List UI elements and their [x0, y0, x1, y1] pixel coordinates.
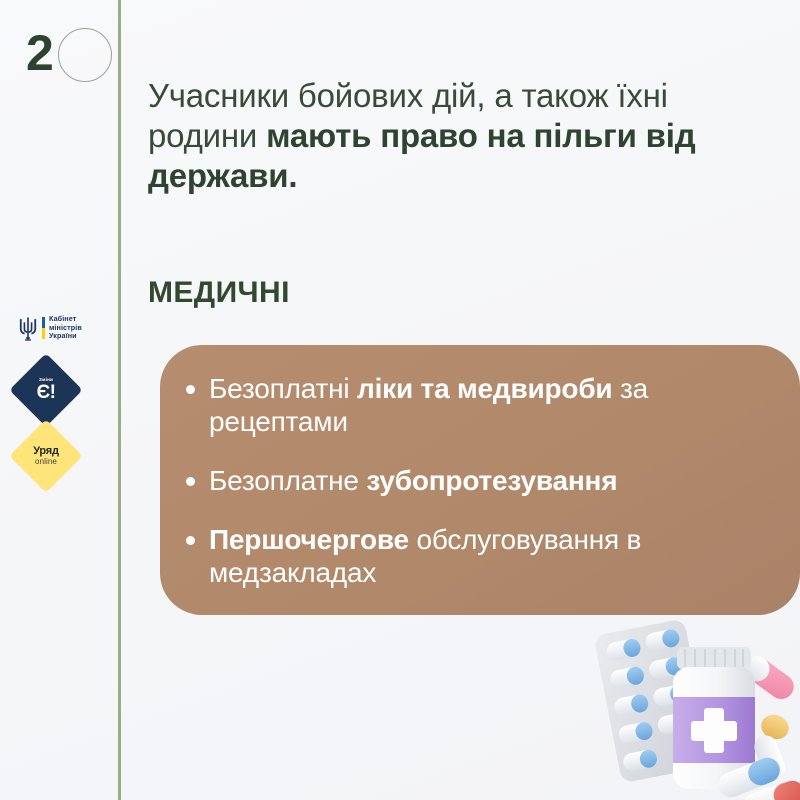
logo-uryad-big-label: Уряд	[33, 446, 59, 457]
benefit-text: Безоплатне зубопротезування	[209, 464, 617, 497]
bullet-dot-icon	[186, 536, 195, 545]
page-headline: Учасники бойових дій, а також їхні родин…	[148, 76, 778, 196]
list-item: Безоплатні ліки та медвироби за рецептам…	[186, 372, 778, 438]
logo-cabinet-label: Кабінет міністрів України	[49, 315, 82, 341]
bullet-dot-icon	[186, 385, 195, 394]
benefit-text: Першочергове обслуговування в медзаклада…	[209, 523, 778, 589]
ukraine-trident-icon	[18, 315, 38, 341]
vertical-divider	[118, 0, 121, 800]
bullet-dot-icon	[186, 477, 195, 486]
logo-uryad-online: Уряд online	[20, 430, 72, 482]
step-circle-icon	[58, 28, 112, 82]
section-title: МЕДИЧНІ	[148, 276, 290, 310]
slide-root: 2 Кабінет міністрів України З	[0, 0, 800, 800]
step-number: 2	[26, 24, 53, 82]
logo-cabinet-of-ministers: Кабінет міністрів України	[18, 306, 114, 350]
ukraine-flag-bar-icon	[42, 317, 45, 339]
list-item: Першочергове обслуговування в медзаклада…	[186, 523, 778, 589]
logo-uryad-small-label: online	[35, 458, 57, 466]
list-item: Безоплатне зубопротезування	[186, 464, 778, 497]
logo-stack: Кабінет міністрів України Зміни Є! Уряд …	[18, 306, 114, 482]
logo-zminy-big-label: Є!	[37, 383, 56, 402]
main-content: Учасники бойових дій, а також їхні родин…	[148, 0, 800, 800]
benefit-emphasis: ліки та медвироби	[357, 373, 612, 404]
logo-zminy-ye: Зміни Є!	[20, 364, 72, 416]
benefit-emphasis: зубопротезування	[366, 465, 617, 496]
benefit-text: Безоплатні ліки та медвироби за рецептам…	[209, 372, 778, 438]
benefit-emphasis: Першочергове	[209, 524, 409, 555]
benefit-lead: Безоплатне	[209, 465, 366, 496]
benefits-card: Безоплатні ліки та медвироби за рецептам…	[160, 345, 800, 615]
step-badge: 2	[26, 24, 112, 86]
benefit-lead: Безоплатні	[209, 373, 357, 404]
